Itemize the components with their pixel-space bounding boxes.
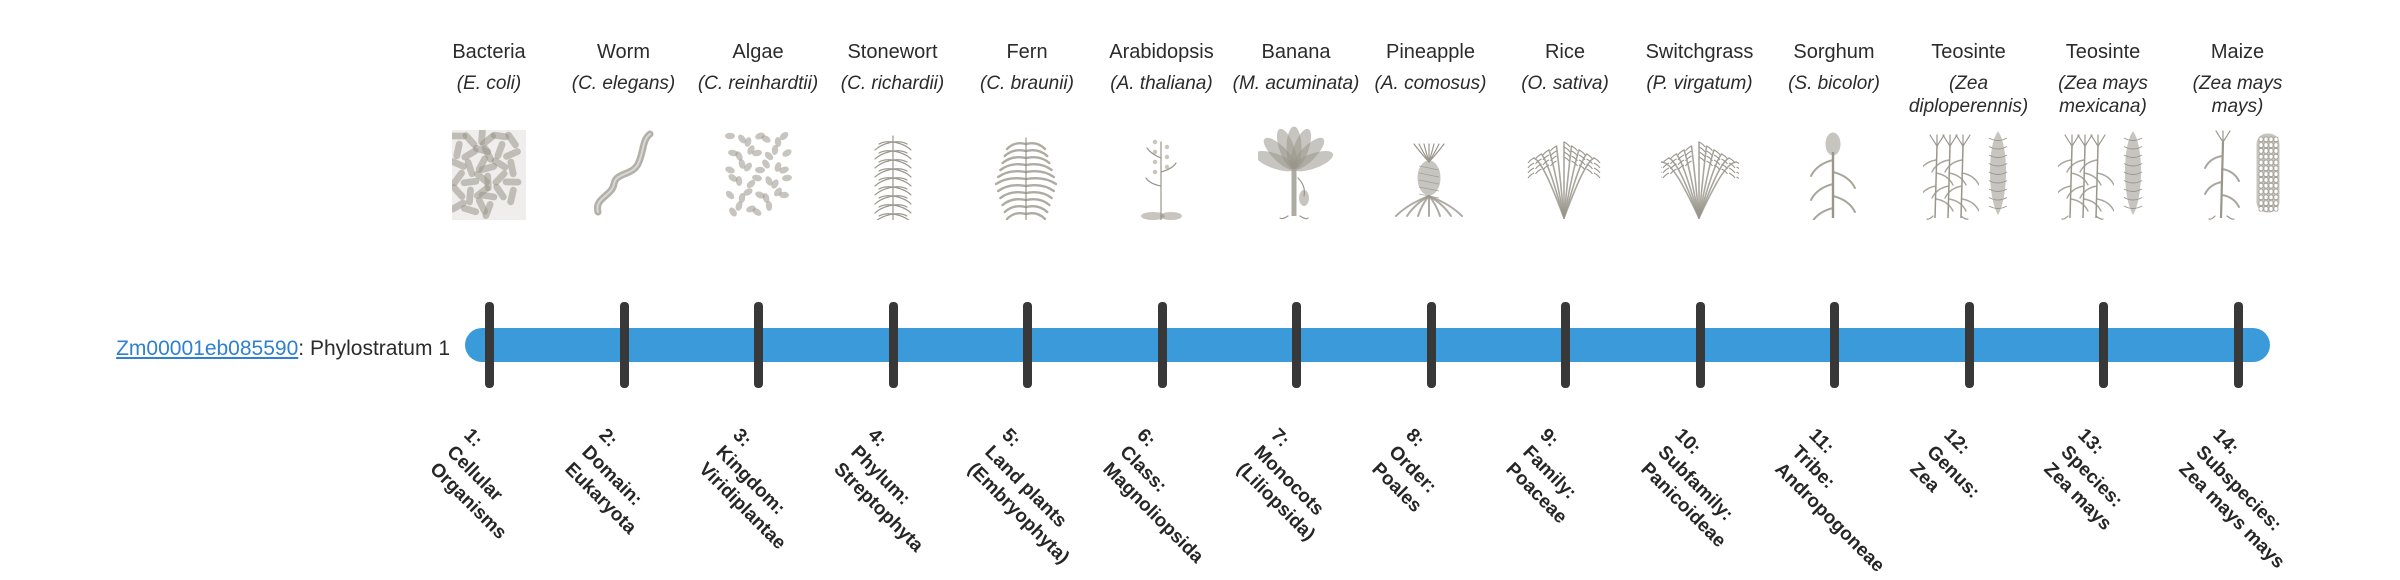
phylostratum-tick-12[interactable]	[1965, 302, 1974, 388]
species-scientific-name: (Zea diploperennis)	[1903, 72, 2035, 120]
phylostratum-name: Kingdom: Viridiplantae	[695, 442, 790, 554]
species-column-12: Teosinte(Zea diploperennis)	[1903, 40, 2035, 220]
gene-id-link[interactable]: Zm00001eb085590	[116, 337, 298, 360]
species-column-4: Stonewort(C. richardii)	[827, 40, 959, 220]
species-common-name: Switchgrass	[1634, 40, 1766, 66]
phylostratum-value: Phylostratum 1	[310, 337, 450, 360]
species-common-name: Pineapple	[1365, 40, 1497, 66]
ecoli-rods-icon	[423, 124, 555, 220]
sorghum-icon	[1768, 124, 1900, 220]
species-common-name: Maize	[2172, 40, 2304, 66]
phylostratum-label-7: 7:Monocots (Liliopsida)	[1231, 424, 1354, 547]
pineapple-icon	[1365, 124, 1497, 220]
phylostratum-label-11: 11:Tribe: Andropogoneae	[1769, 424, 1923, 578]
banana-plant-icon	[1230, 124, 1362, 220]
arabidopsis-icon	[1096, 124, 1228, 220]
phylostratum-name: Genus: Zea	[1905, 442, 1983, 503]
species-column-9: Rice(O. sativa)	[1499, 40, 1631, 220]
phylostratum-name: Family: Poaceae	[1502, 442, 1581, 528]
species-column-13: Teosinte(Zea mays mexicana)	[2037, 40, 2169, 220]
species-scientific-name: (Zea mays mays)	[2172, 72, 2304, 120]
species-common-name: Rice	[1499, 40, 1631, 66]
phylostratum-name: Land plants (Embryophyta)	[964, 442, 1074, 569]
phylostratum-label-1: 1:Cellular Organisms	[424, 424, 545, 545]
gene-row-label: Zm00001eb085590: Phylostratum 1	[30, 336, 450, 362]
phylostratum-label-5: 5:Land plants (Embryophyta)	[962, 424, 1108, 570]
phylostratum-label-6: 6:Class: Magnoliopsida	[1097, 424, 1242, 569]
phylostratum-tick-9[interactable]	[1561, 302, 1570, 388]
species-common-name: Teosinte	[1903, 40, 2035, 66]
phylostratum-label-3: 3:Kingdom: Viridiplantae	[693, 424, 824, 555]
species-column-8: Pineapple(A. comosus)	[1365, 40, 1497, 220]
nematode-worm-icon	[558, 124, 690, 220]
species-common-name: Banana	[1230, 40, 1362, 66]
phylostratum-diagram: Zm00001eb085590: Phylostratum 1 Bacteria…	[0, 0, 2400, 580]
species-scientific-name: (A. comosus)	[1365, 72, 1497, 120]
phylostratum-tick-11[interactable]	[1830, 302, 1839, 388]
phylostratum-tick-7[interactable]	[1292, 302, 1301, 388]
phylostratum-tick-8[interactable]	[1427, 302, 1436, 388]
stonewort-icon	[827, 124, 959, 220]
phylostratum-tick-10[interactable]	[1696, 302, 1705, 388]
species-common-name: Arabidopsis	[1096, 40, 1228, 66]
species-column-10: Switchgrass(P. virgatum)	[1634, 40, 1766, 220]
phylostratum-label-12: 12:Genus: Zea	[1904, 424, 2001, 521]
species-common-name: Sorghum	[1768, 40, 1900, 66]
species-column-11: Sorghum(S. bicolor)	[1768, 40, 1900, 220]
species-common-name: Teosinte	[2037, 40, 2169, 66]
species-common-name: Fern	[961, 40, 1093, 66]
species-column-1: Bacteria(E. coli)	[423, 40, 555, 220]
phylostratum-name: Subfamily: Panicoideae	[1636, 442, 1736, 552]
phylostratum-label-8: 8:Order: Poales	[1366, 424, 1460, 518]
phylostratum-name: Order: Poales	[1367, 442, 1440, 517]
phylostratum-name: Subspecies: Zea mays mays	[2174, 442, 2288, 573]
phylostratum-label-4: 4:Phylum: Streptophyta	[828, 424, 962, 558]
species-common-name: Algae	[692, 40, 824, 66]
maize-plant-cob-icon	[2172, 124, 2304, 220]
algae-cells-icon	[692, 124, 824, 220]
phylostratum-label-14: 14:Subspecies: Zea mays mays	[2173, 424, 2323, 574]
phylostratum-label-10: 10:Subfamily: Panicoideae	[1635, 424, 1764, 553]
phylostratum-label-9: 9:Family: Poaceae	[1500, 424, 1605, 529]
phylostratum-tick-1[interactable]	[485, 302, 494, 388]
species-common-name: Worm	[558, 40, 690, 66]
species-scientific-name: (A. thaliana)	[1096, 72, 1228, 120]
species-common-name: Bacteria	[423, 40, 555, 66]
teosinte-plant-ear-icon	[2037, 124, 2169, 220]
rice-plant-icon	[1499, 124, 1631, 220]
phylostratum-name: Domain: Eukaryota	[560, 442, 646, 539]
species-scientific-name: (C. reinhardtii)	[692, 72, 824, 120]
species-column-2: Worm(C. elegans)	[558, 40, 690, 220]
species-scientific-name: (C. elegans)	[558, 72, 690, 120]
species-scientific-name: (C. braunii)	[961, 72, 1093, 120]
phylostratum-bar[interactable]	[465, 328, 2270, 362]
phylostratum-name: Monocots (Liliopsida)	[1233, 442, 1328, 545]
gene-label-separator: :	[298, 337, 310, 360]
species-scientific-name: (P. virgatum)	[1634, 72, 1766, 120]
phylostratum-name: Class: Magnoliopsida	[1098, 442, 1207, 568]
phylostratum-label-13: 13:Species: Zea mays	[2038, 424, 2150, 536]
phylostratum-tick-3[interactable]	[754, 302, 763, 388]
phylostratum-tick-4[interactable]	[889, 302, 898, 388]
phylostratum-name: Cellular Organisms	[426, 442, 511, 544]
species-column-3: Algae(C. reinhardtii)	[692, 40, 824, 220]
switchgrass-icon	[1634, 124, 1766, 220]
phylostratum-tick-13[interactable]	[2099, 302, 2108, 388]
species-scientific-name: (S. bicolor)	[1768, 72, 1900, 120]
species-column-14: Maize(Zea mays mays)	[2172, 40, 2304, 220]
species-scientific-name: (O. sativa)	[1499, 72, 1631, 120]
teosinte-plant-ear-icon	[1903, 124, 2035, 220]
species-common-name: Stonewort	[827, 40, 959, 66]
phylostratum-tick-5[interactable]	[1023, 302, 1032, 388]
phylostratum-tick-6[interactable]	[1158, 302, 1167, 388]
phylostratum-name: Phylum: Streptophyta	[829, 442, 927, 557]
species-scientific-name: (C. richardii)	[827, 72, 959, 120]
phylostratum-name: Tribe: Andropogoneae	[1771, 442, 1889, 577]
species-scientific-name: (M. acuminata)	[1230, 72, 1362, 120]
species-column-7: Banana(M. acuminata)	[1230, 40, 1362, 220]
species-scientific-name: (Zea mays mexicana)	[2037, 72, 2169, 120]
fern-frond-icon	[961, 124, 1093, 220]
species-scientific-name: (E. coli)	[423, 72, 555, 120]
species-column-6: Arabidopsis(A. thaliana)	[1096, 40, 1228, 220]
phylostratum-tick-2[interactable]	[620, 302, 629, 388]
species-column-5: Fern(C. braunii)	[961, 40, 1093, 220]
phylostratum-label-2: 2:Domain: Eukaryota	[559, 424, 675, 540]
phylostratum-name: Species: Zea mays	[2040, 442, 2127, 535]
phylostratum-tick-14[interactable]	[2234, 302, 2243, 388]
